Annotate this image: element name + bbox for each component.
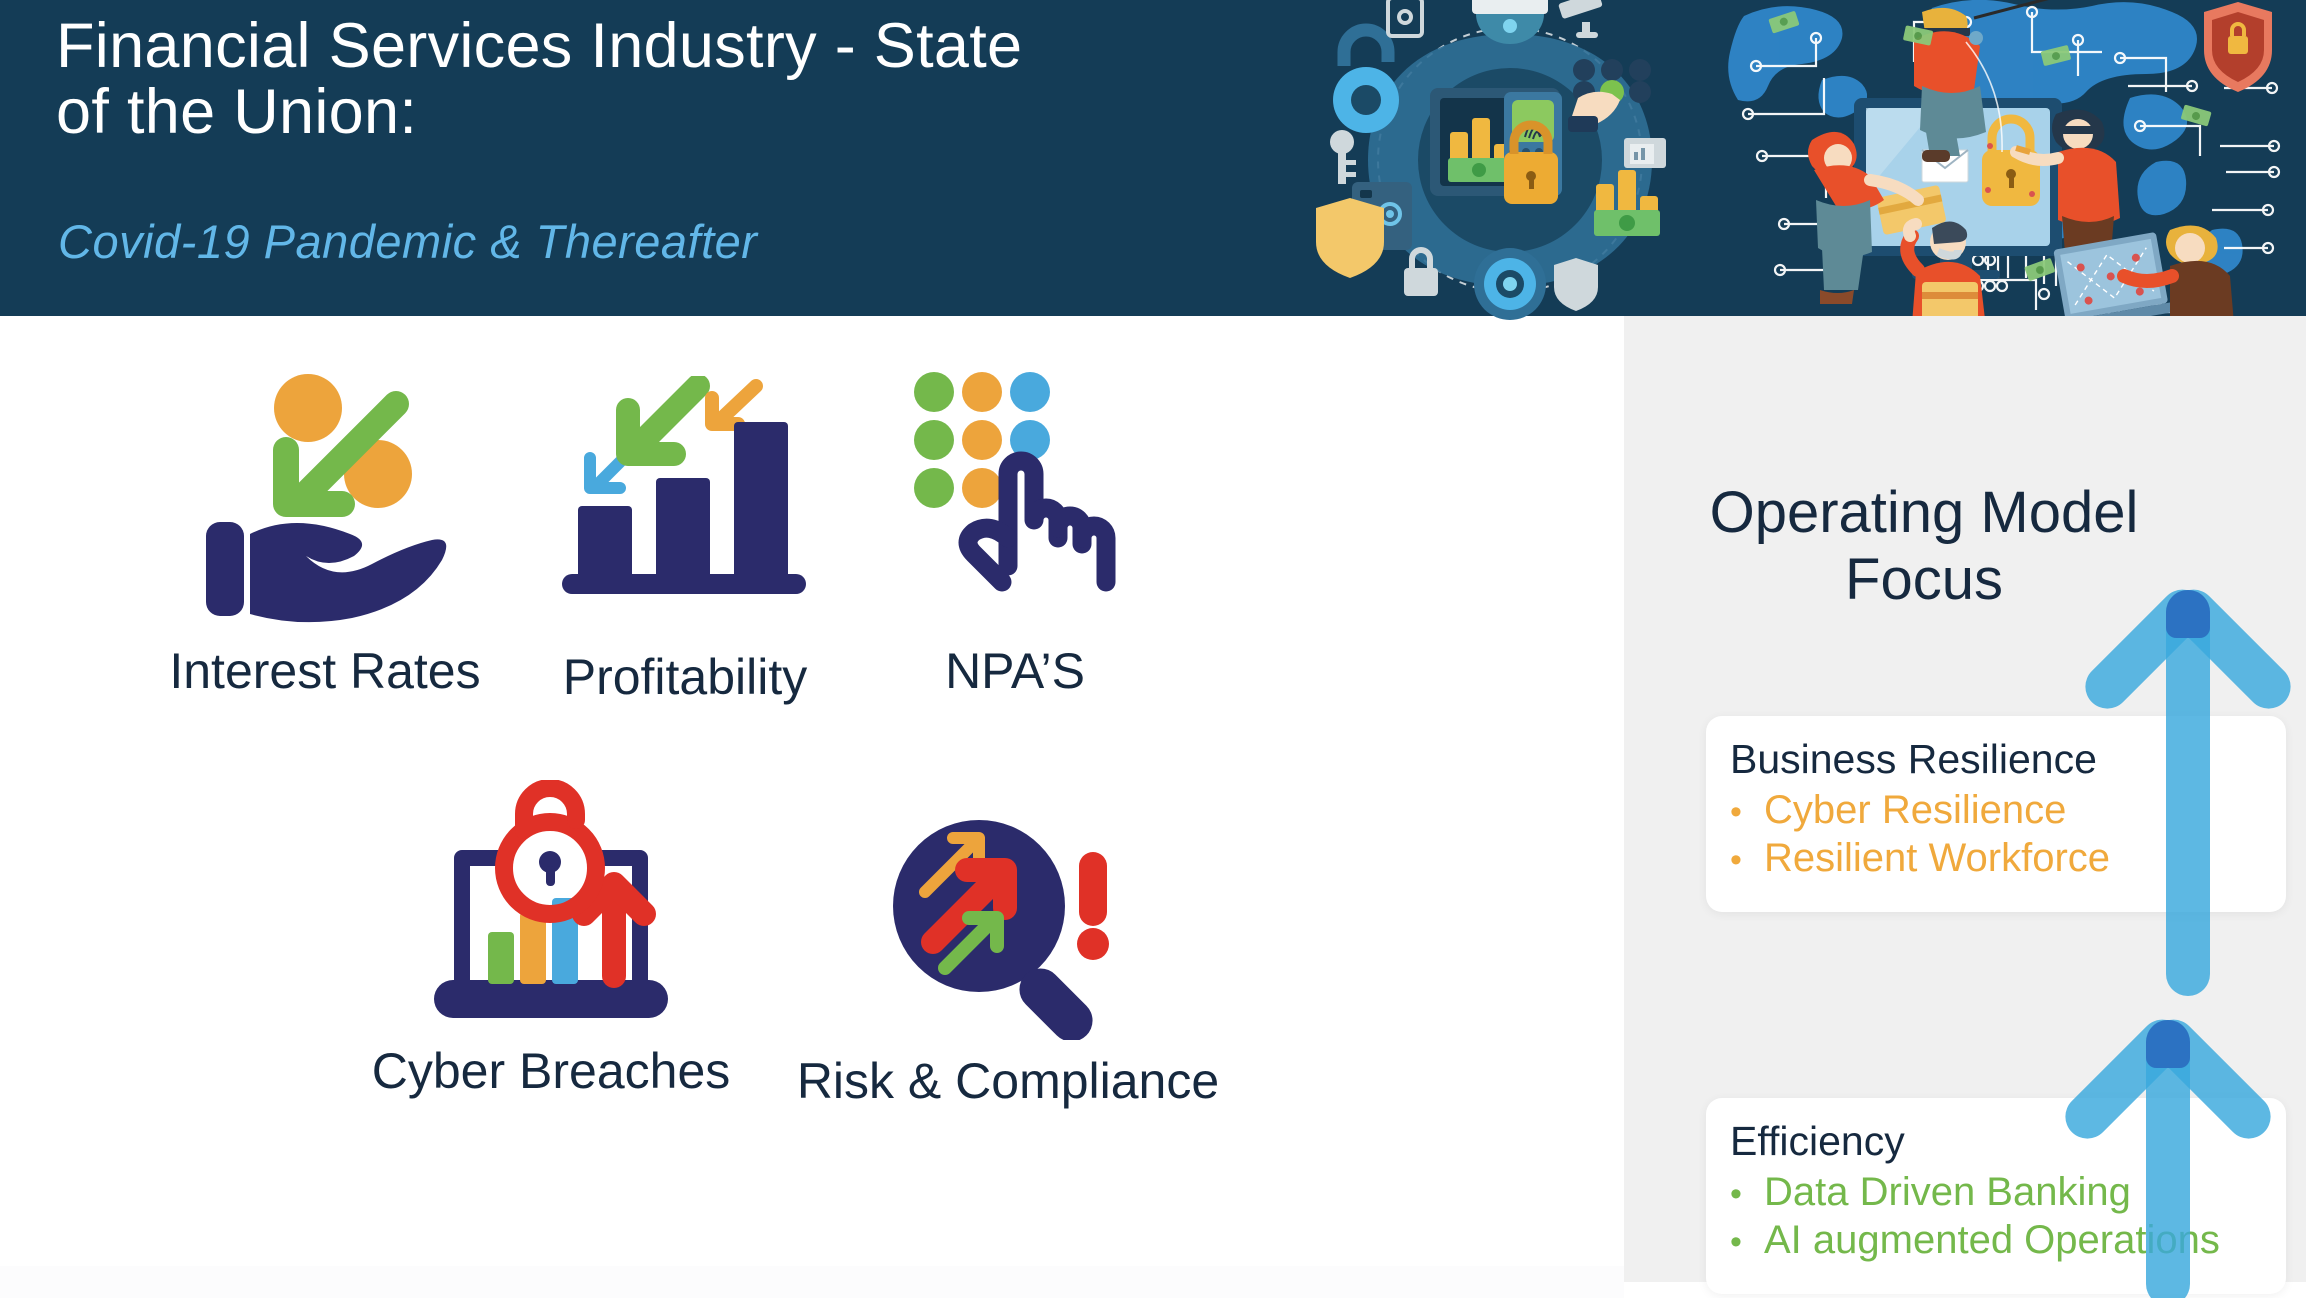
hand-touch-keypad-icon <box>900 370 1130 620</box>
bullet-icon: • <box>1730 1225 1764 1259</box>
slide-header: Financial Services Industry - State of t… <box>0 0 2306 316</box>
list-item: • Resilient Workforce <box>1730 838 2110 878</box>
arrow-tip <box>2166 590 2210 638</box>
up-arrow-icon <box>2058 1000 2278 1298</box>
page-subtitle: Covid-19 Pandemic & Thereafter <box>58 214 757 269</box>
card-heading: Business Resilience <box>1730 736 2097 783</box>
tile-npas: NPA’S <box>760 370 1270 740</box>
footer-band <box>0 1266 1624 1298</box>
falling-interest-rates-icon <box>200 370 450 630</box>
list-item: • Cyber Resilience <box>1730 790 2110 830</box>
financial-security-illustration <box>1300 0 1720 322</box>
magnifier-warning-icon <box>883 810 1133 1040</box>
bullet-label: Resilient Workforce <box>1764 838 2110 878</box>
card-heading: Efficiency <box>1730 1118 1905 1165</box>
business-resilience-bullets: • Cyber Resilience • Resilient Workforce <box>1730 790 2110 886</box>
page-title: Financial Services Industry - State of t… <box>56 14 1306 145</box>
slide: Financial Services Industry - State of t… <box>0 0 2306 1298</box>
tile-risk-compliance: Risk & Compliance <box>698 810 1318 1140</box>
tile-label: Risk & Compliance <box>698 1052 1318 1110</box>
tile-label: NPA’S <box>760 642 1270 700</box>
up-arrow-icon <box>2078 570 2298 1000</box>
laptop-open-padlock-icon <box>416 780 686 1030</box>
arrow-tip <box>2146 1020 2190 1068</box>
bullet-icon: • <box>1730 843 1764 877</box>
bullet-icon: • <box>1730 795 1764 829</box>
bullet-label: Cyber Resilience <box>1764 790 2066 830</box>
bullet-icon: • <box>1730 1177 1764 1211</box>
